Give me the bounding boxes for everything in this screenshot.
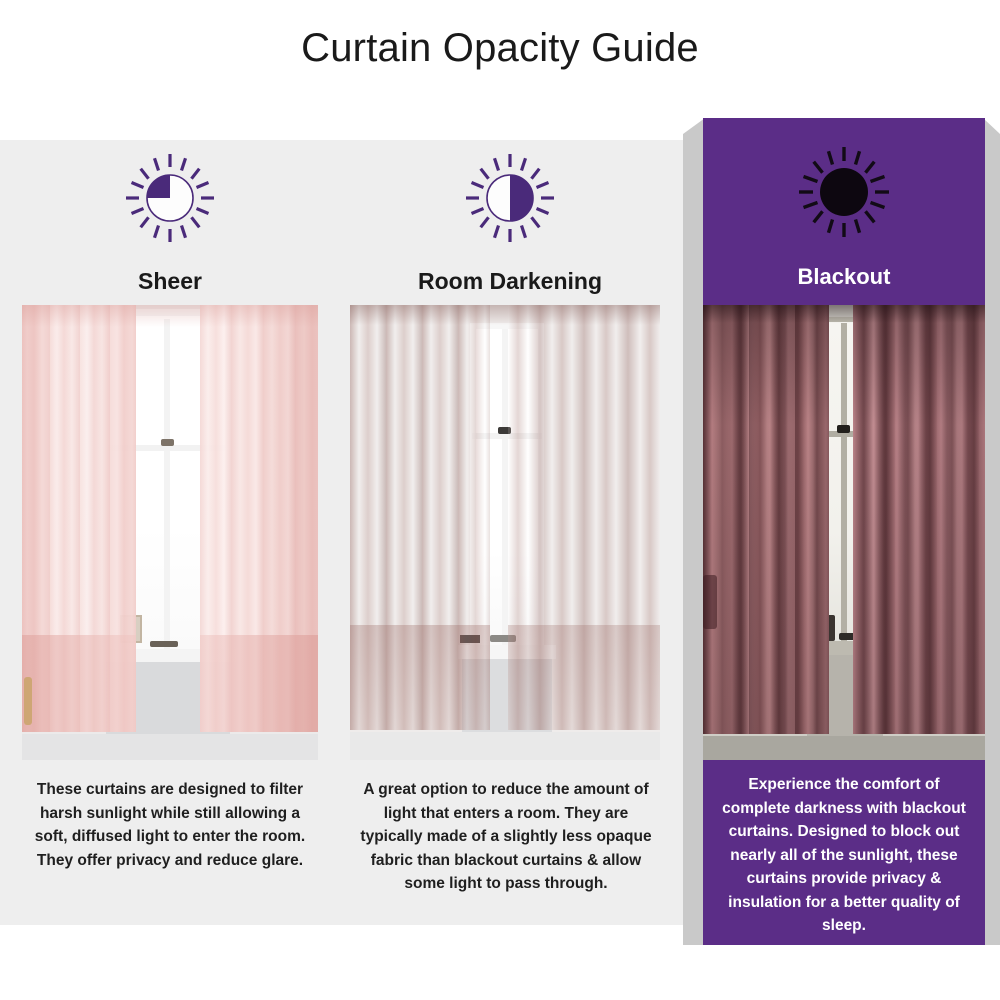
- column-blackout[interactable]: Blackout: [703, 118, 985, 945]
- category-label-sheer: Sheer: [0, 268, 340, 295]
- sun-quarter-shaded-icon: [0, 150, 340, 246]
- column-sheer[interactable]: Sheer: [0, 140, 340, 925]
- column-room-darkening[interactable]: Room Darkening: [340, 140, 680, 925]
- category-label-blackout: Blackout: [703, 264, 985, 290]
- photo-blackout-curtains: [703, 305, 985, 760]
- description-sheer: These curtains are designed to filter ha…: [30, 778, 310, 872]
- sun-half-shaded-icon: [340, 150, 680, 246]
- category-label-room-darkening: Room Darkening: [340, 268, 680, 295]
- blackout-card-shadow-right: [983, 118, 1000, 945]
- description-room-darkening: A great option to reduce the amount of l…: [358, 778, 654, 896]
- page-title: Curtain Opacity Guide: [0, 26, 1000, 71]
- photo-sheer-curtains: [22, 305, 318, 760]
- curtain-opacity-infographic: Curtain Opacity Guide: [0, 0, 1000, 1000]
- sun-fully-shaded-icon: [703, 144, 985, 240]
- description-blackout: Experience the comfort of complete darkn…: [717, 773, 971, 938]
- blackout-card-shadow-left: [683, 118, 705, 945]
- photo-room-darkening-curtains: [350, 305, 660, 760]
